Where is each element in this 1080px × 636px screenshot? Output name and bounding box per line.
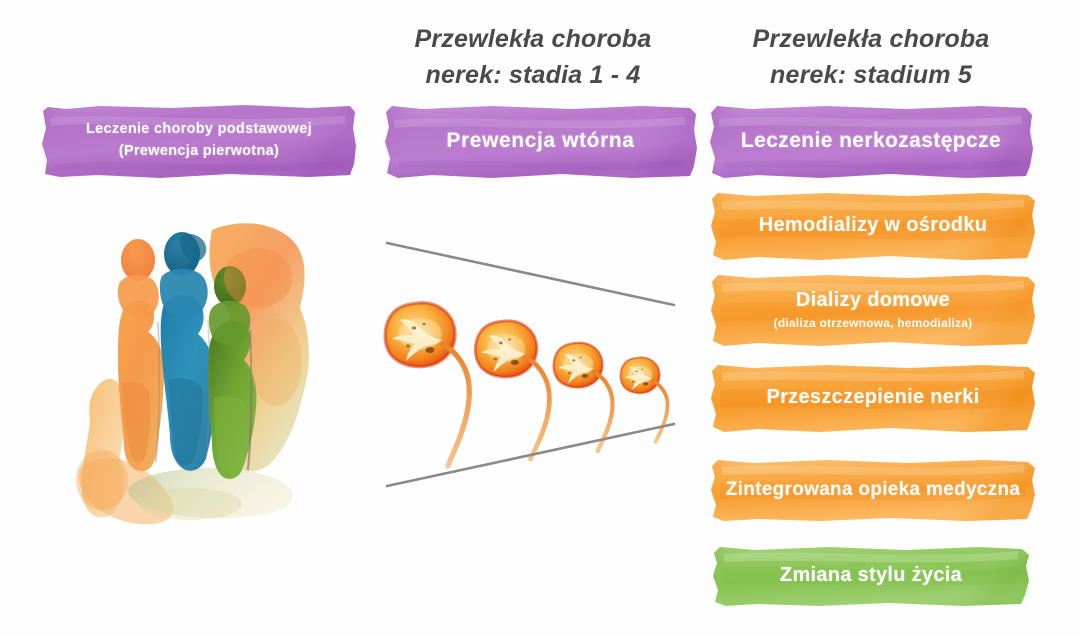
kidney-stage-1 <box>384 303 469 466</box>
banner-home-dialysis-label: Dializy domowe <box>796 289 950 313</box>
banner-secondary-prevention-label: Prewencja wtórna <box>446 129 634 154</box>
banner-primary-line1: Leczenie choroby podstawowej <box>86 121 312 137</box>
banner-kidney-transplantation[interactable]: Przeszczepienie nerki <box>708 362 1038 434</box>
banner-integrated-care-label: Zintegrowana opieka medyczna <box>726 479 1021 501</box>
heading-ckd-stages-1-4: Przewlekła choroba nerek: stadia 1 - 4 <box>383 22 683 93</box>
banner-renal-replacement-therapy[interactable]: Leczenie nerkozastępcze <box>706 102 1036 180</box>
heading-stages-line1: Przewlekła choroba <box>383 22 683 58</box>
banner-primary-prevention-label: Leczenie choroby podstawowej (Prewencja … <box>86 119 312 163</box>
kidney-stage-2 <box>474 321 549 459</box>
banner-hd-center-label: Hemodializy w ośrodku <box>759 214 988 238</box>
banner-primary-line2: (Prewencja pierwotna) <box>119 143 279 159</box>
heading-stage5-line2: nerek: stadium 5 <box>706 58 1036 94</box>
banner-lifestyle-change[interactable]: Zmiana stylu życia <box>710 544 1032 608</box>
banner-home-dialysis[interactable]: Dializy domowe (dializa otrzewnowa, hemo… <box>708 272 1038 348</box>
banner-home-dialysis-sublabel: (dializa otrzewnowa, hemodializa) <box>774 317 973 331</box>
heading-ckd-stage-5: Przewlekła choroba nerek: stadium 5 <box>706 22 1036 93</box>
banner-secondary-prevention[interactable]: Prewencja wtórna <box>382 102 699 180</box>
heading-stage5-line1: Przewlekła choroba <box>706 22 1036 58</box>
banner-primary-prevention[interactable]: Leczenie choroby podstawowej (Prewencja … <box>40 102 358 180</box>
banner-in-center-hemodialysis[interactable]: Hemodializy w ośrodku <box>708 190 1038 262</box>
banner-transplant-label: Przeszczepienie nerki <box>766 386 979 410</box>
watercolor-people-illustration <box>62 212 352 534</box>
banner-lifestyle-label: Zmiana stylu życia <box>780 564 962 588</box>
slide-canvas: Przewlekła choroba nerek: stadia 1 - 4 P… <box>0 0 1080 636</box>
kidney-stage-3 <box>553 343 613 452</box>
kidney-progression-illustration <box>378 228 690 496</box>
banner-integrated-care[interactable]: Zintegrowana opieka medyczna <box>708 457 1038 523</box>
heading-stages-line2: nerek: stadia 1 - 4 <box>383 58 683 94</box>
kidney-stage-4 <box>620 357 668 442</box>
banner-rrt-label: Leczenie nerkozastępcze <box>741 129 1001 154</box>
